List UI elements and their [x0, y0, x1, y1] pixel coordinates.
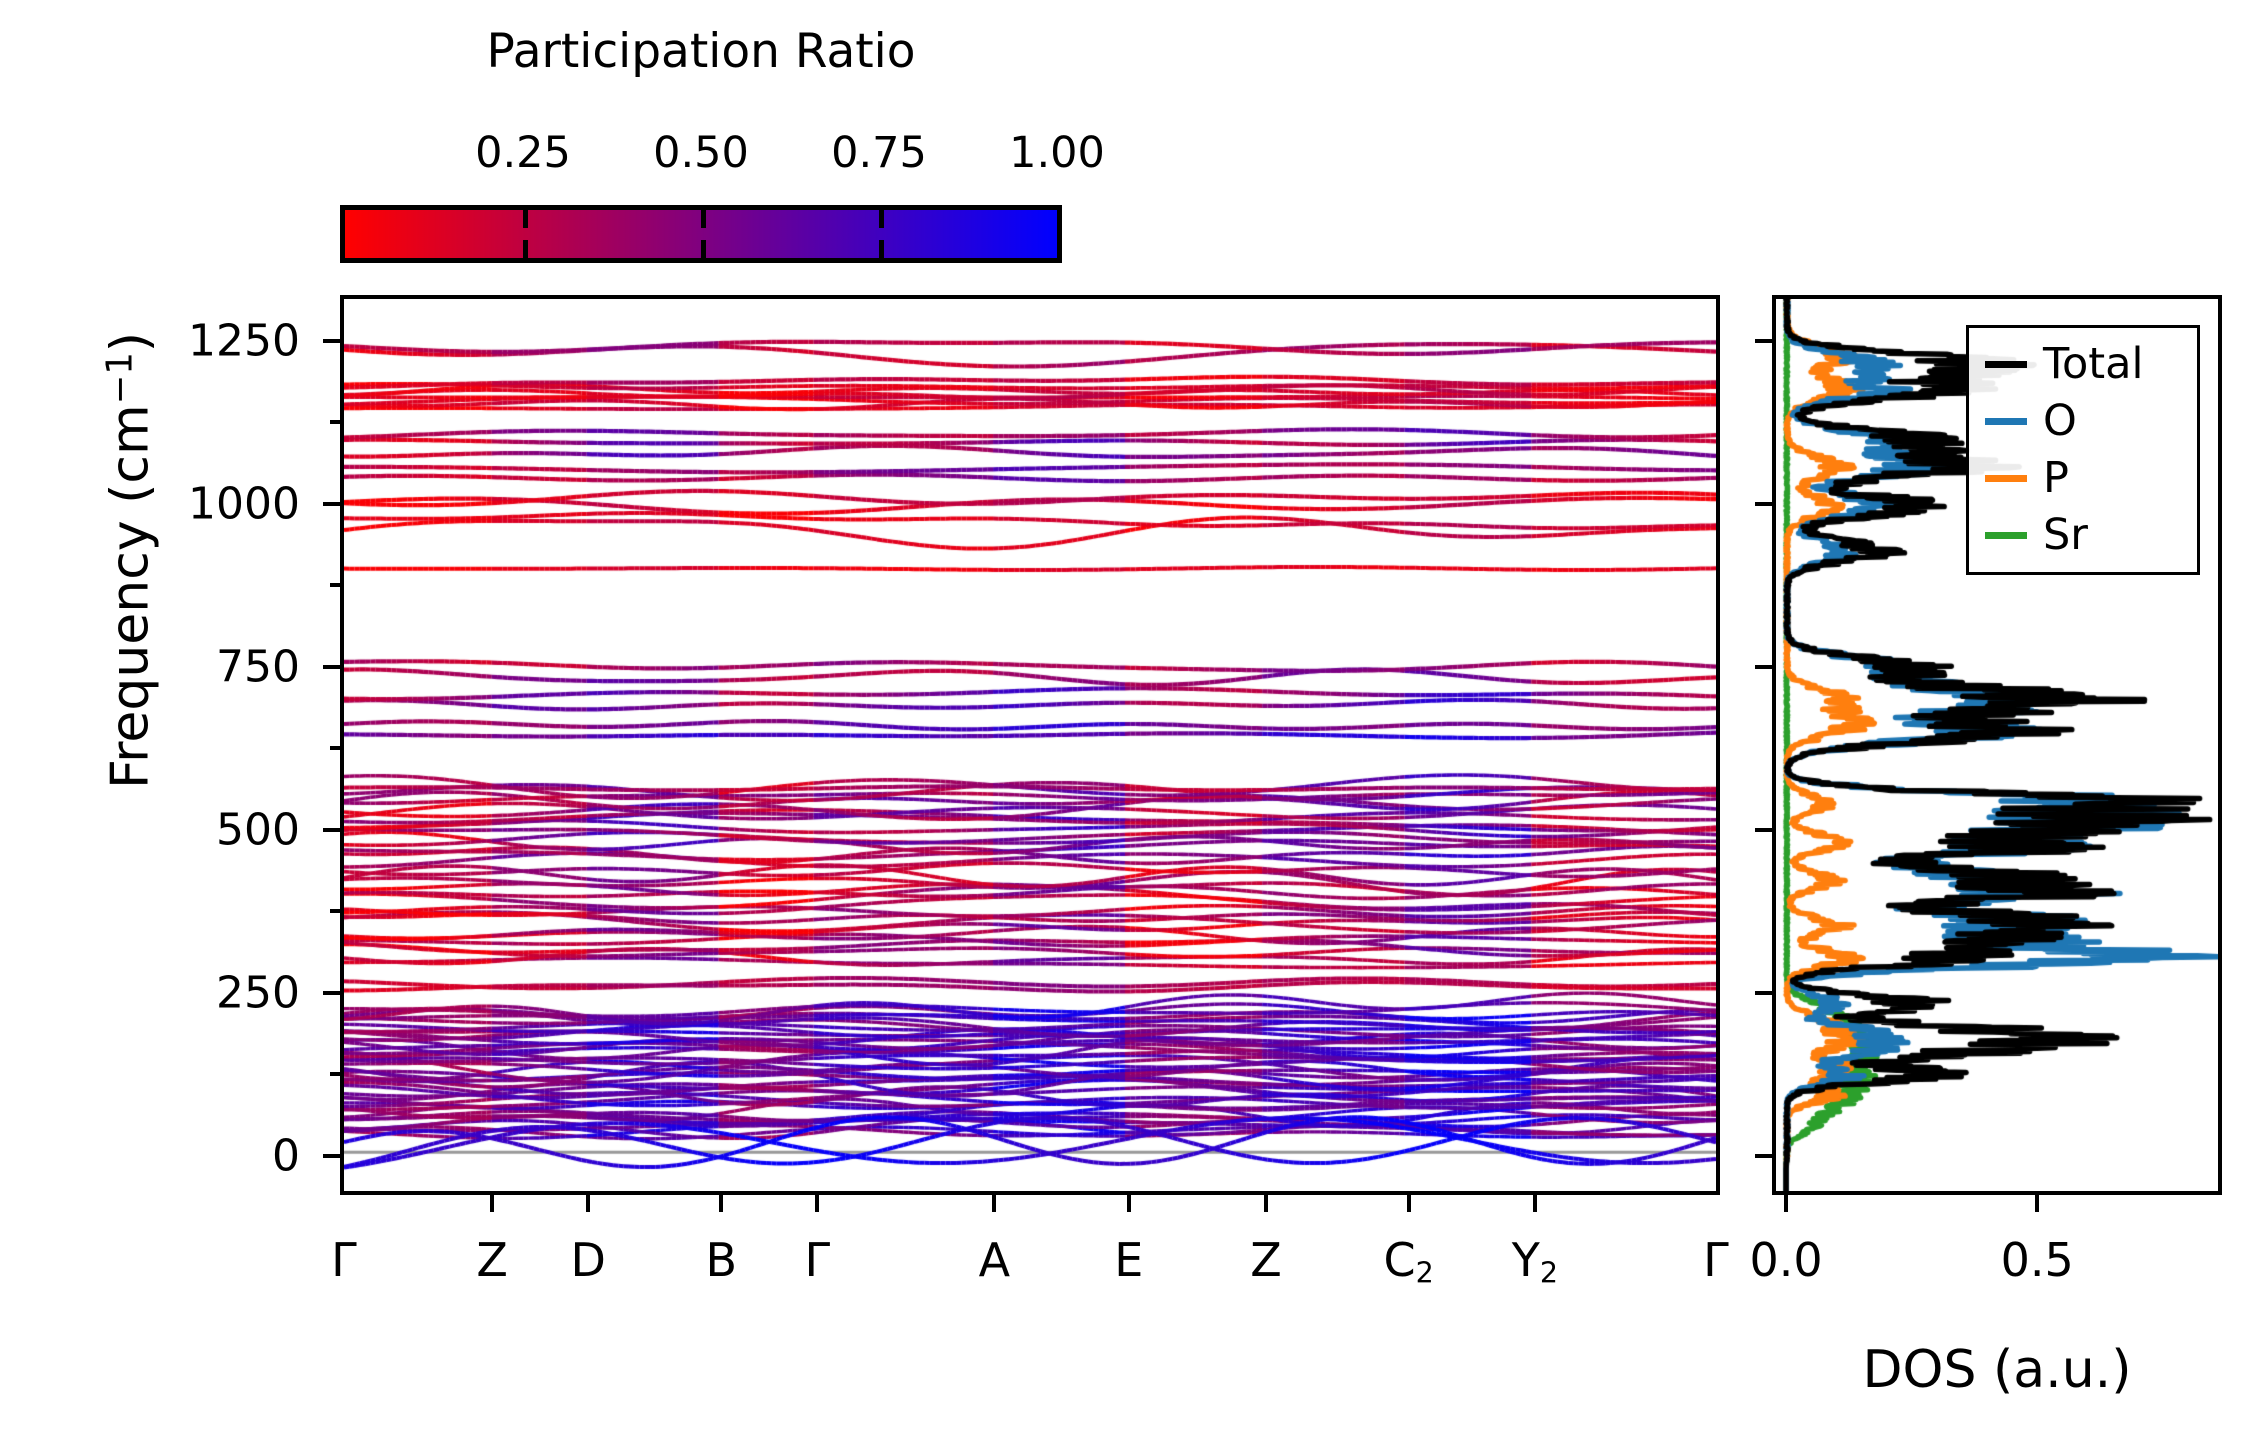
- x-tick-3: [719, 1195, 723, 1212]
- colorbar-tick-label-1.00: 1.00: [1009, 128, 1105, 178]
- dos-y-tick-1000: [1755, 502, 1772, 506]
- dos-x-tick-label-1: 0.5: [2001, 1233, 2074, 1287]
- y-minor-tick-125: [330, 1072, 340, 1076]
- phonon-figure: Participation Ratio Frequency (cm−1) DOS…: [0, 0, 2259, 1455]
- tick-layer: 0.250.500.751.00025050075010001250ΓZDBΓA…: [0, 0, 2259, 1455]
- x-tick-label-4: Γ: [805, 1233, 831, 1287]
- x-tick-5: [992, 1195, 996, 1212]
- x-tick-8: [1407, 1195, 1411, 1212]
- x-tick-6: [1127, 1195, 1131, 1212]
- x-tick-label-9: Y2: [1512, 1233, 1558, 1289]
- x-tick-2: [586, 1195, 590, 1212]
- dos-y-tick-0: [1755, 1154, 1772, 1158]
- dos-y-tick-1250: [1755, 339, 1772, 343]
- y-tick-750: [323, 665, 340, 669]
- y-tick-1250: [323, 339, 340, 343]
- y-minor-tick-1125: [330, 420, 340, 424]
- x-tick-label-0: Γ: [331, 1233, 357, 1287]
- y-tick-label-0: 0: [20, 1130, 300, 1181]
- colorbar-tick-label-0.75: 0.75: [831, 128, 927, 178]
- dos-y-tick-250: [1755, 991, 1772, 995]
- dos-x-tick-1: [2035, 1195, 2039, 1212]
- y-tick-label-1000: 1000: [20, 478, 300, 529]
- y-tick-label-750: 750: [20, 641, 300, 692]
- y-tick-1000: [323, 502, 340, 506]
- x-tick-9: [1533, 1195, 1537, 1212]
- x-tick-7: [1264, 1195, 1268, 1212]
- dos-x-tick-0: [1784, 1195, 1788, 1212]
- x-tick-label-1: Z: [476, 1233, 508, 1287]
- y-tick-label-500: 500: [20, 804, 300, 855]
- y-tick-label-1250: 1250: [20, 315, 300, 366]
- dos-x-tick-label-0: 0.0: [1749, 1233, 1822, 1287]
- x-tick-label-2: D: [570, 1233, 605, 1287]
- y-tick-250: [323, 991, 340, 995]
- x-tick-1: [490, 1195, 494, 1212]
- x-tick-label-3: B: [706, 1233, 738, 1287]
- colorbar-tick-label-0.25: 0.25: [475, 128, 571, 178]
- y-minor-tick-375: [330, 909, 340, 913]
- dos-y-tick-750: [1755, 665, 1772, 669]
- dos-y-tick-500: [1755, 828, 1772, 832]
- x-tick-label-6: E: [1114, 1233, 1143, 1287]
- x-tick-label-5: A: [979, 1233, 1010, 1287]
- x-tick-label-10: Γ: [1703, 1233, 1729, 1287]
- x-tick-label-8: C2: [1384, 1233, 1434, 1289]
- y-minor-tick-875: [330, 583, 340, 587]
- x-tick-4: [815, 1195, 819, 1212]
- colorbar-tick-label-0.50: 0.50: [653, 128, 749, 178]
- x-tick-label-7: Z: [1250, 1233, 1282, 1287]
- y-tick-label-250: 250: [20, 967, 300, 1018]
- y-tick-500: [323, 828, 340, 832]
- y-tick-0: [323, 1154, 340, 1158]
- y-minor-tick-625: [330, 746, 340, 750]
